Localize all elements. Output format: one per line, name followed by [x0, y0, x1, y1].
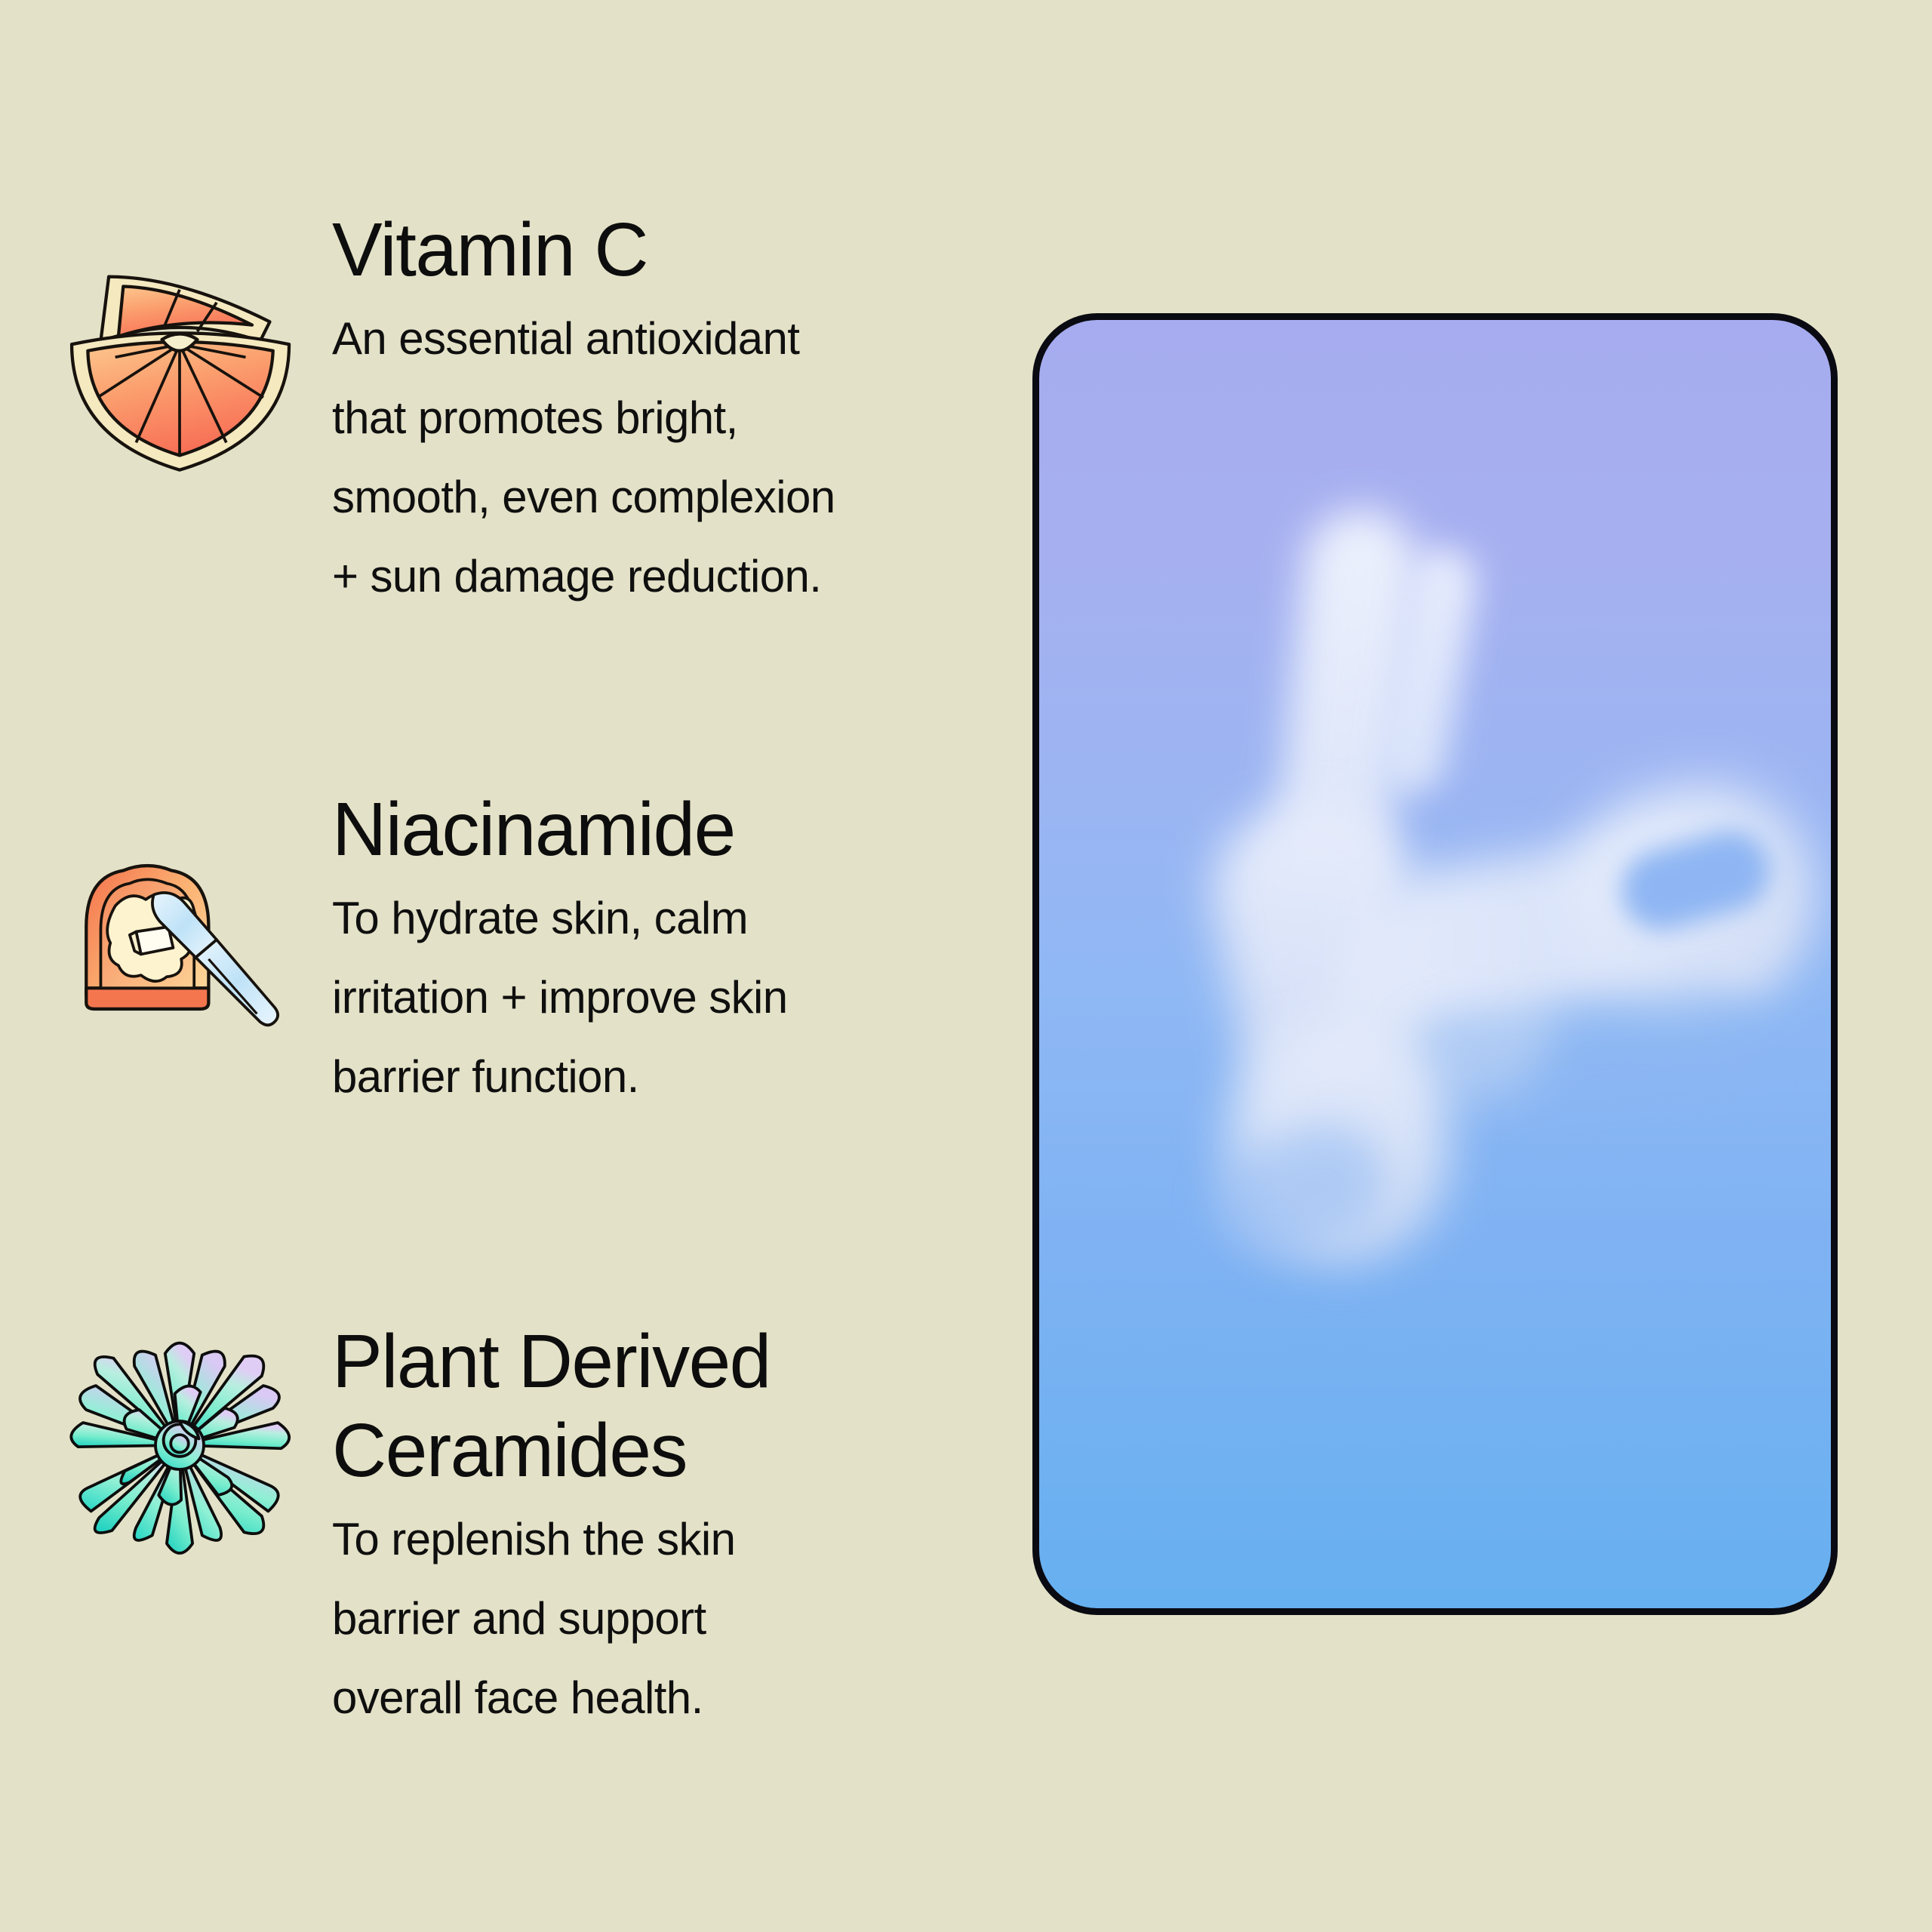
ingredient-description: An essential antioxidant that promotes b… — [332, 299, 981, 616]
ingredient-heading: Vitamin C — [332, 205, 981, 294]
ingredient-description: To replenish the skin barrier and suppor… — [332, 1500, 981, 1737]
ingredient-text-niacinamide: Niacinamide To hydrate skin, calm irrita… — [332, 785, 981, 1116]
citrus-slice-icon — [59, 245, 300, 486]
ingredient-description: To hydrate skin, calm irritation + impro… — [332, 878, 981, 1116]
ingredient-text-plant-derived-ceramides: Plant Derived Ceramides To replenish the… — [332, 1317, 981, 1737]
ingredient-heading: Niacinamide — [332, 785, 981, 874]
card-inner — [1039, 320, 1831, 1608]
ingredient-list: Vitamin C An essential antioxidant that … — [0, 0, 1011, 1932]
cream-swirl-graphic — [1039, 320, 1831, 1608]
buttered-toast-icon — [59, 853, 300, 1094]
infographic-canvas: Vitamin C An essential antioxidant that … — [0, 0, 1932, 1932]
ingredient-heading: Plant Derived Ceramides — [332, 1317, 981, 1495]
succulent-plant-icon — [59, 1324, 300, 1566]
product-texture-card — [1032, 313, 1838, 1615]
ingredient-text-vitamin-c: Vitamin C An essential antioxidant that … — [332, 205, 981, 616]
